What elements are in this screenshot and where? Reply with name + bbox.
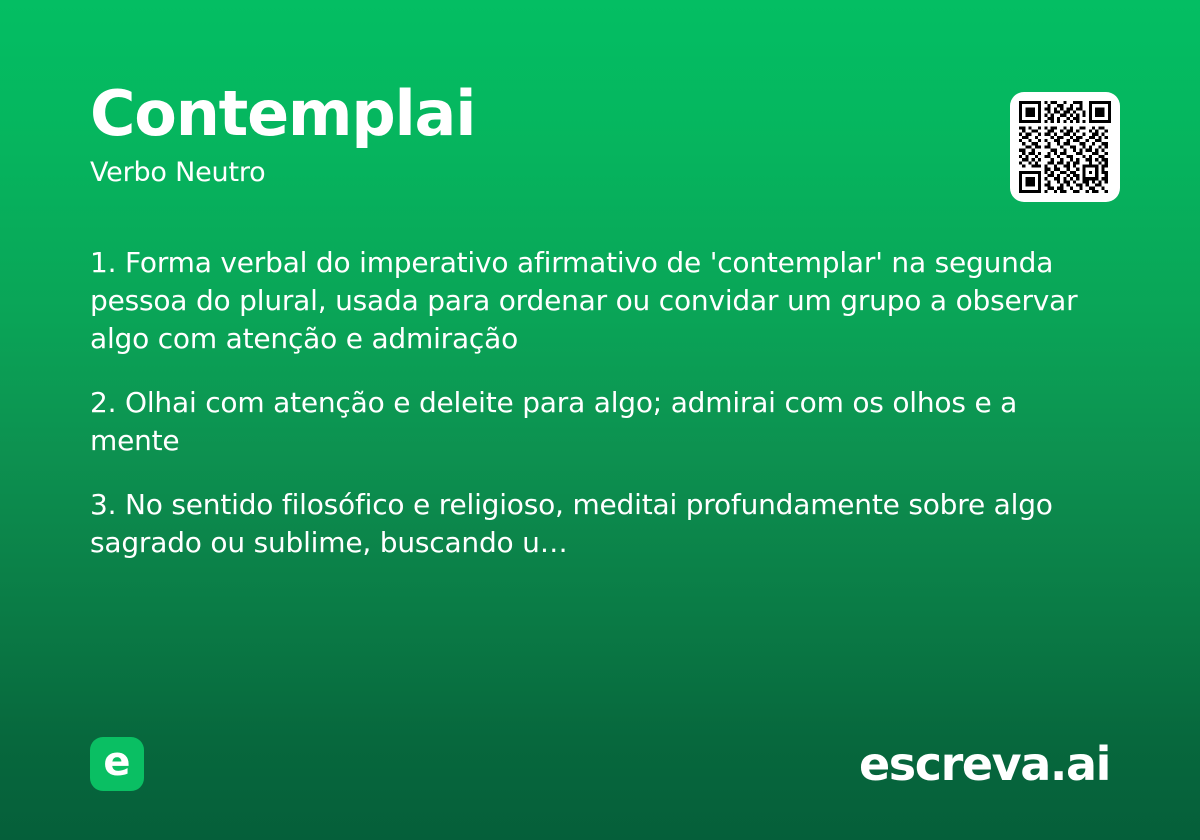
dictionary-card: Contemplai Verbo Neutro [0,0,1200,840]
definition-item: 3. No sentido filosófico e religioso, me… [90,486,1110,562]
page-title: Contemplai [90,82,1110,145]
brand-logo: e [90,737,144,791]
definition-list: 1. Forma verbal do imperativo afirmativo… [90,244,1110,563]
brand-logo-glyph: e [103,742,130,782]
brand-name: escreva.ai [859,741,1110,787]
definition-item: 1. Forma verbal do imperativo afirmativo… [90,244,1110,358]
definition-item: 2. Olhai com atenção e deleite para algo… [90,384,1110,460]
qr-code-icon[interactable] [1010,92,1120,202]
card-header: Contemplai Verbo Neutro [90,82,1110,188]
card-footer: e escreva.ai [90,736,1110,792]
word-class-label: Verbo Neutro [90,157,1110,188]
